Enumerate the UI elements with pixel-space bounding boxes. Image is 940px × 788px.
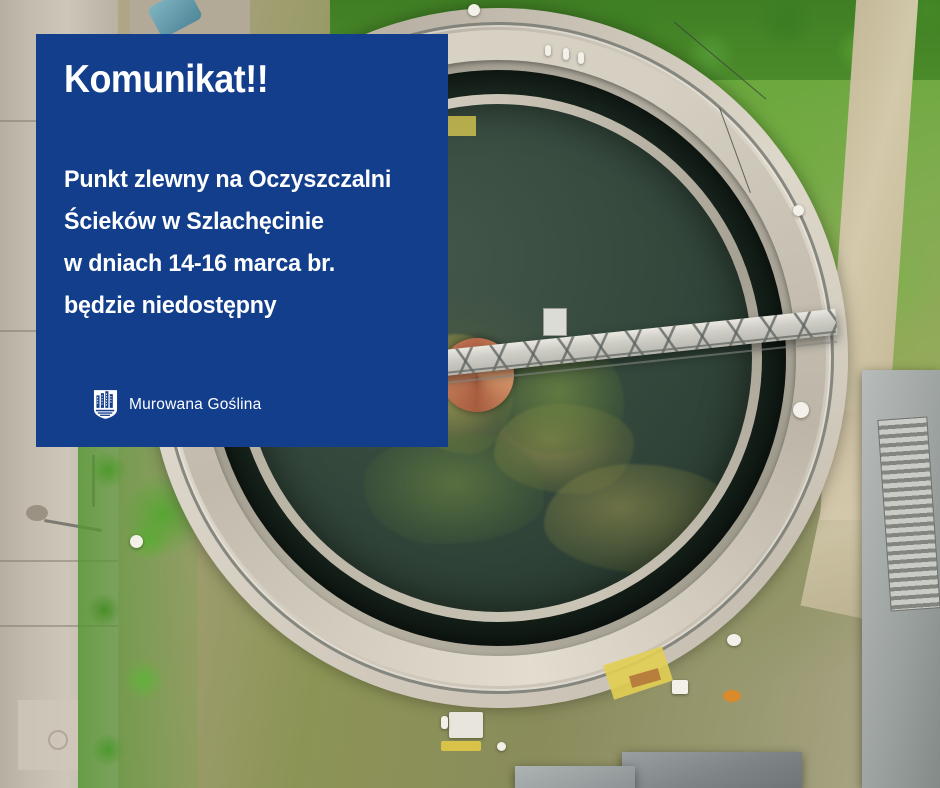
- panel-body-line-1: Punkt zlewny na Oczyszczalni: [64, 159, 400, 201]
- tank-vent-cover: [727, 634, 741, 646]
- site-marker: [497, 742, 506, 751]
- manhole-ring: [48, 730, 68, 750]
- equipment-box: [672, 680, 688, 694]
- orange-marker: [723, 690, 741, 702]
- bridge-equipment-box: [543, 308, 567, 336]
- panel-body-line-4: będzie niedostępny: [64, 285, 400, 327]
- scum-patch: [544, 464, 734, 574]
- poster-canvas: Komunikat!! Punkt zlewny na Oczyszczalni…: [0, 0, 940, 788]
- panel-body: Punkt zlewny na Oczyszczalni Ścieków w S…: [64, 159, 418, 327]
- plant-building: [515, 766, 635, 788]
- algae-patch: [364, 434, 544, 544]
- announcement-panel: Komunikat!! Punkt zlewny na Oczyszczalni…: [36, 34, 448, 447]
- tank-vent-cover: [793, 402, 809, 418]
- person: [441, 716, 448, 729]
- brand-lockup: Murowana Goślina: [93, 389, 261, 420]
- plant-building: [622, 752, 802, 788]
- person: [545, 45, 551, 56]
- panel-body-line-2: Ścieków w Szlachęcinie: [64, 201, 400, 243]
- person: [578, 52, 584, 64]
- brand-name: Murowana Goślina: [129, 396, 261, 414]
- tank-platform: [448, 116, 476, 136]
- equipment-box: [449, 712, 483, 738]
- panel-body-line-3: w dniach 14-16 marca br.: [64, 243, 400, 285]
- coat-of-arms-icon: [93, 389, 118, 420]
- site-marker: [468, 4, 480, 16]
- yellow-marker: [441, 741, 481, 751]
- site-marker: [130, 535, 143, 548]
- site-marker: [793, 205, 804, 216]
- panel-title: Komunikat!!: [64, 60, 390, 101]
- person: [563, 48, 569, 60]
